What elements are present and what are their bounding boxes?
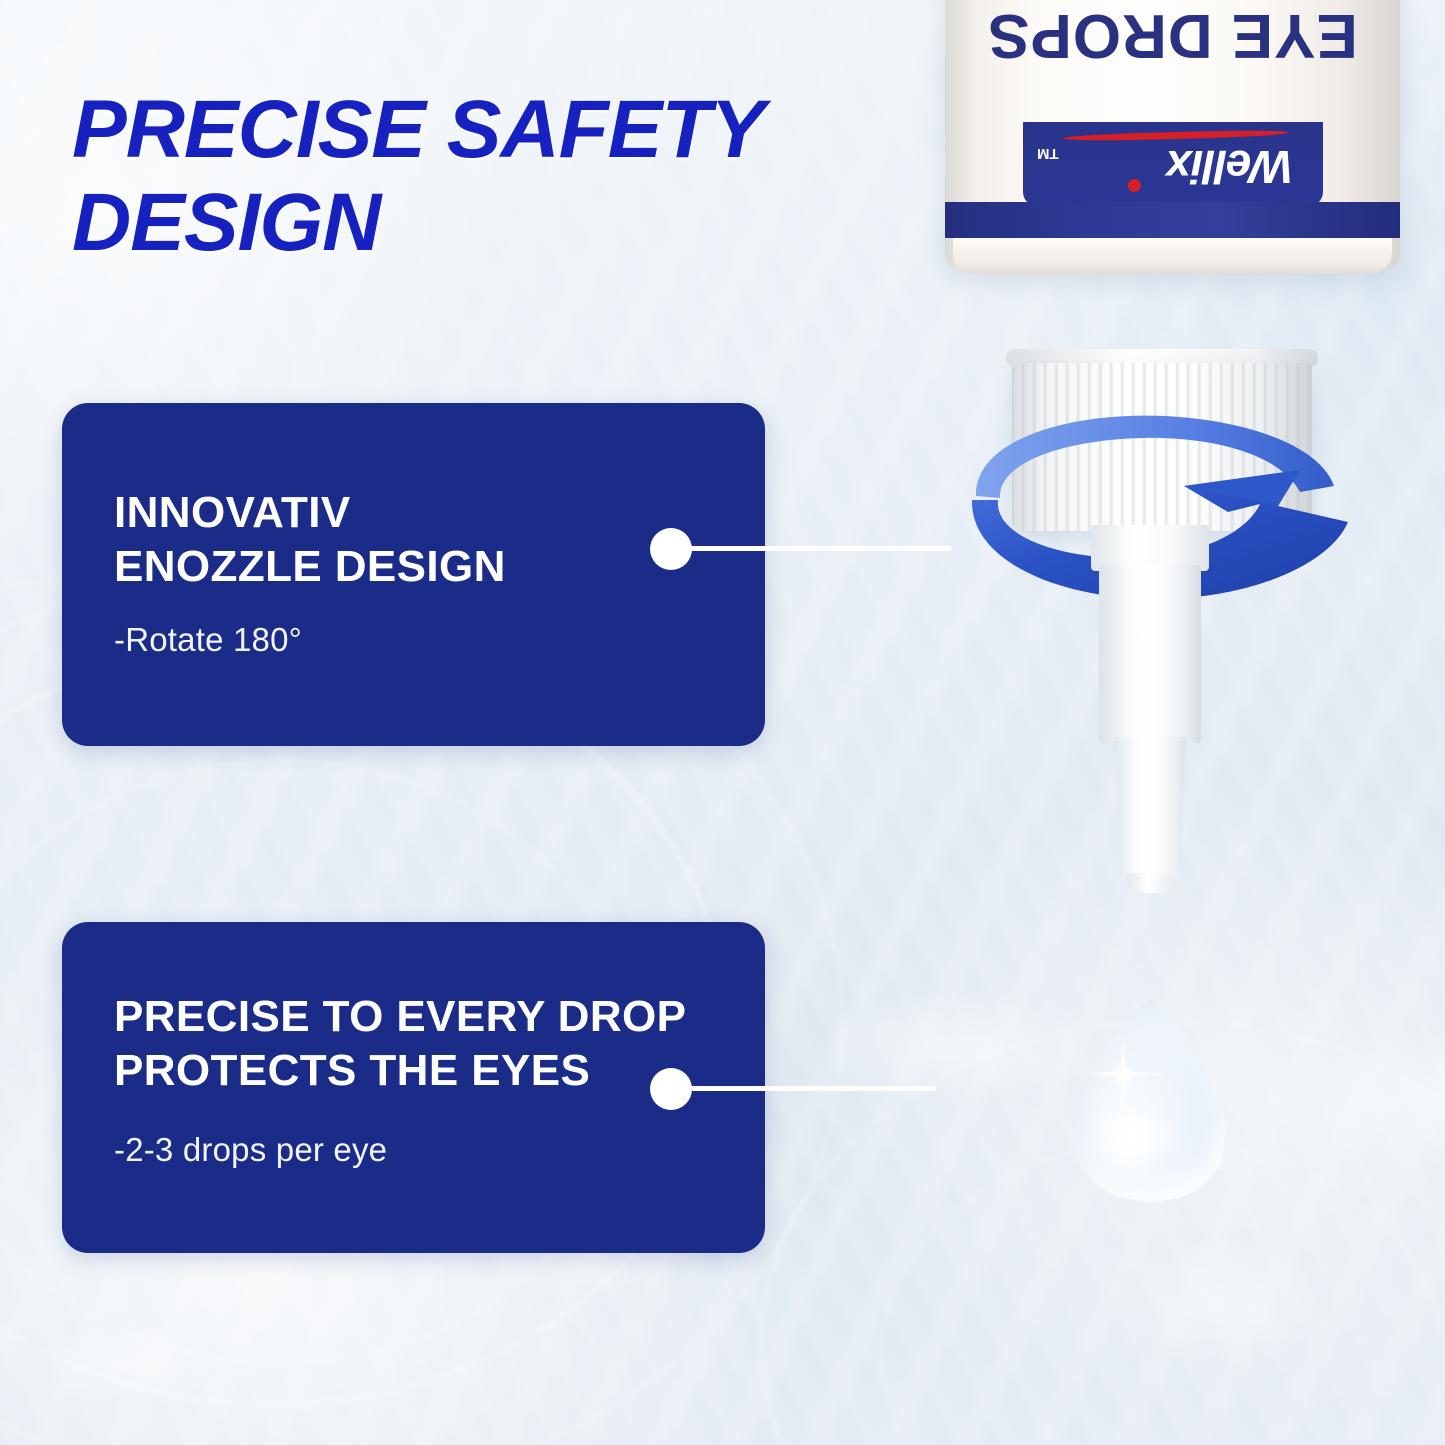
- feature-card-1-title: INNOVATIV ENOZZLE DESIGN: [114, 486, 714, 593]
- brand-trademark: TM: [1037, 145, 1059, 162]
- water-droplet-icon: [1052, 995, 1248, 1207]
- connector-line-1-top: [686, 546, 951, 551]
- product-bottle: FOR CATS & DOGS EYE DROPS Wellix TM: [945, 0, 1400, 300]
- feature-card-1-subtitle: -Rotate 180°: [114, 621, 302, 659]
- page-title-line1: PRECISE SAFETY: [72, 84, 972, 177]
- page-title: PRECISE SAFETY DESIGN: [72, 84, 972, 269]
- bottle-shoulder: [953, 238, 1392, 274]
- precision-nozzle: [1075, 525, 1225, 925]
- brand-badge: Wellix TM: [1023, 122, 1323, 206]
- droplet-highlight: [1104, 1113, 1180, 1169]
- label-product-name: EYE DROPS: [945, 0, 1400, 71]
- feature-card-2-subtitle: -2-3 drops per eye: [114, 1131, 387, 1169]
- bottle-body: FOR CATS & DOGS EYE DROPS Wellix TM: [945, 0, 1400, 270]
- brand-dot-icon: [1128, 179, 1141, 192]
- nozzle-tip: [1127, 873, 1173, 893]
- feature-card-nozzle[interactable]: INNOVATIV ENOZZLE DESIGN -Rotate 180°: [62, 403, 765, 746]
- bottle-color-band: [945, 202, 1400, 238]
- brand-name: Wellix: [1167, 140, 1293, 194]
- feature-card-1-title-line1: INNOVATIV: [114, 486, 714, 540]
- feature-card-2-title-line2: PROTECTS THE EYES: [114, 1044, 734, 1098]
- connector-line-2-top: [686, 1086, 936, 1091]
- feature-card-2-title-line1: PRECISE TO EVERY DROP: [114, 990, 734, 1044]
- nozzle-upper: [1099, 565, 1201, 743]
- nozzle-taper: [1111, 737, 1189, 879]
- infographic-canvas: PRECISE SAFETY DESIGN FOR CATS & DOGS EY…: [0, 0, 1445, 1445]
- feature-card-1-title-line2: ENOZZLE DESIGN: [114, 540, 714, 594]
- sparkle-icon: [1078, 1029, 1168, 1119]
- page-title-line2: DESIGN: [72, 177, 972, 270]
- feature-card-2-title: PRECISE TO EVERY DROP PROTECTS THE EYES: [114, 990, 734, 1097]
